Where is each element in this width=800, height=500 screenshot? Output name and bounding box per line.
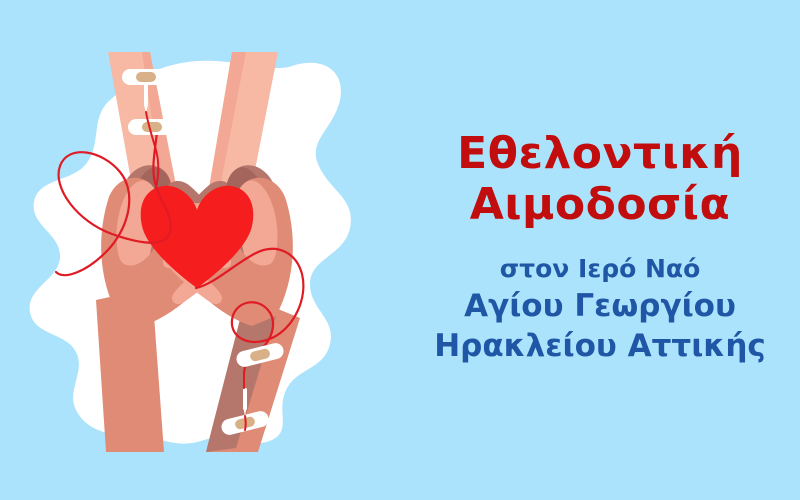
headline-line-1: Εθελοντική: [457, 128, 743, 180]
needle-left: [144, 83, 148, 107]
blood-donation-poster: Εθελοντική Αιμοδοσία στον Ιερό Ναό Αγίου…: [0, 0, 800, 500]
subtitle-line-2: Αγίου Γεωργίου: [464, 286, 736, 326]
bandage-upper-left-2: [128, 119, 176, 135]
subtitle-line-1: στον Ιερό Ναό: [500, 253, 701, 286]
blood-donation-illustration: [0, 0, 400, 500]
headline-line-2: Αιμοδοσία: [457, 179, 743, 231]
blood-tube-lower-tail: [245, 416, 246, 430]
headline-block: Εθελοντική Αιμοδοσία: [457, 128, 743, 232]
illustration-svg: [0, 0, 400, 500]
subtitle-line-3: Ηρακλείου Αττικής: [434, 326, 766, 366]
bandage-upper-left-1: [122, 69, 170, 85]
poster-text-panel: Εθελοντική Αιμοδοσία στον Ιερό Ναό Αγίου…: [400, 0, 800, 500]
